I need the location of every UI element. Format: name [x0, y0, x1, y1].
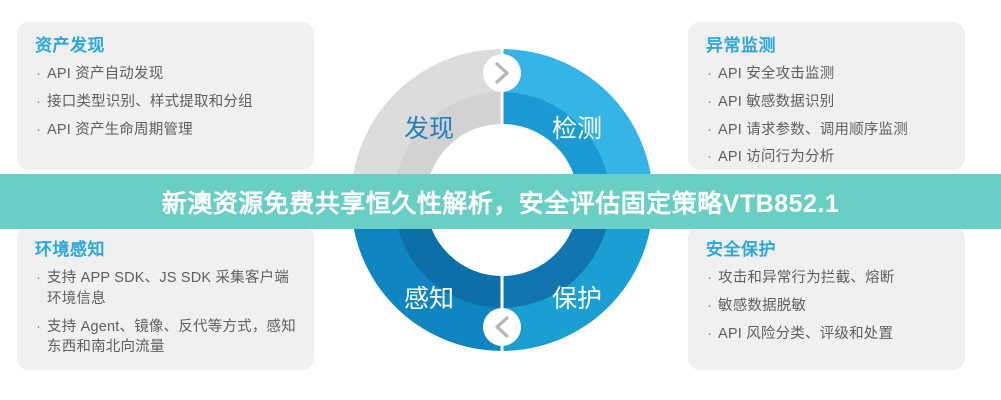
card-title-asset-discovery: 资产发现	[35, 36, 296, 56]
list-item: 支持 APP SDK、JS SDK 采集客户端环境信息	[35, 268, 296, 309]
list-item: 接口类型识别、样式提取和分组	[35, 92, 296, 113]
card-title-anomaly-detection: 异常监测	[706, 36, 947, 56]
list-item: API 资产自动发现	[35, 64, 296, 85]
bullet-list-security-protection: 攻击和异常行为拦截、熔断 敏感数据脱敏 API 风险分类、评级和处置	[706, 268, 947, 344]
overlay-banner: 新澳资源免费共享恒久性解析，安全评估固定策略VTB852.1	[0, 174, 1001, 229]
quadrant-label-protect: 保护	[552, 285, 602, 313]
bullet-list-anomaly-detection: API 安全攻击监测 API 敏感数据识别 API 请求参数、调用顺序监测 AP…	[706, 64, 947, 167]
overlay-banner-text: 新澳资源免费共享恒久性解析，安全评估固定策略VTB852.1	[162, 184, 840, 220]
quadrant-label-discover: 发现	[404, 115, 454, 143]
quadrant-label-perceive: 感知	[404, 285, 454, 313]
card-security-protection: 安全保护 攻击和异常行为拦截、熔断 敏感数据脱敏 API 风险分类、评级和处置	[688, 226, 965, 370]
list-item: API 敏感数据识别	[706, 92, 947, 113]
card-title-security-protection: 安全保护	[706, 240, 947, 260]
list-item: 敏感数据脱敏	[706, 296, 947, 317]
connector-top-circle[interactable]	[483, 54, 521, 92]
list-item: API 风险分类、评级和处置	[706, 324, 947, 345]
list-item: 支持 Agent、镜像、反代等方式，感知东西和南北向流量	[35, 317, 296, 358]
bullet-list-asset-discovery: API 资产自动发现 接口类型识别、样式提取和分组 API 资产生命周期管理	[35, 64, 296, 140]
card-asset-discovery: 资产发现 API 资产自动发现 接口类型识别、样式提取和分组 API 资产生命周…	[17, 22, 314, 170]
infographic-canvas: 资产发现 API 资产自动发现 接口类型识别、样式提取和分组 API 资产生命周…	[0, 0, 1001, 400]
list-item: API 请求参数、调用顺序监测	[706, 120, 947, 141]
card-anomaly-detection: 异常监测 API 安全攻击监测 API 敏感数据识别 API 请求参数、调用顺序…	[688, 22, 965, 170]
list-item: API 安全攻击监测	[706, 64, 947, 85]
list-item: API 资产生命周期管理	[35, 120, 296, 141]
quadrant-label-detect: 检测	[552, 115, 602, 143]
card-environment-awareness: 环境感知 支持 APP SDK、JS SDK 采集客户端环境信息 支持 Agen…	[17, 226, 314, 370]
connector-top[interactable]	[483, 54, 521, 92]
bullet-list-environment-awareness: 支持 APP SDK、JS SDK 采集客户端环境信息 支持 Agent、镜像、…	[35, 268, 296, 357]
list-item: 攻击和异常行为拦截、熔断	[706, 268, 947, 289]
connector-bottom[interactable]	[483, 308, 521, 346]
card-title-environment-awareness: 环境感知	[35, 240, 296, 260]
list-item: API 访问行为分析	[706, 147, 947, 168]
connector-bottom-circle[interactable]	[483, 308, 521, 346]
